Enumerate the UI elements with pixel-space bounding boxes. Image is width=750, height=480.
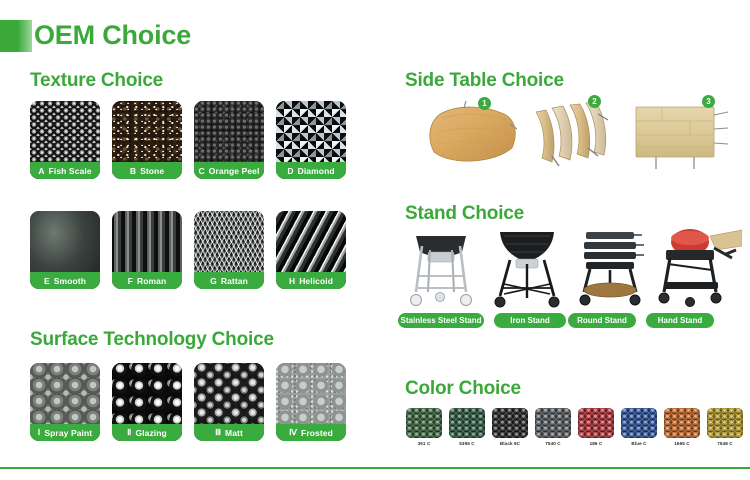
color-bump-texture (406, 408, 442, 438)
section-title-stand: Stand Choice (405, 203, 524, 225)
surface-swatch-2[interactable]: Ⅱ Glazing (112, 363, 182, 441)
stand-item-iron[interactable] (492, 228, 562, 310)
surface-label-3: Matt (225, 428, 243, 438)
texture-key-e: E (44, 276, 50, 286)
stand-item-stainless-steel[interactable] (406, 230, 476, 310)
side-table-badge-3: 3 (702, 95, 715, 108)
texture-key-f: F (128, 276, 133, 286)
texture-key-d: D (287, 166, 293, 176)
surface-label-4: Frosted (301, 428, 333, 438)
texture-key-b: B (130, 166, 136, 176)
oem-choice-page: OEM Choice Texture Choice A Fish Scale B… (0, 0, 750, 480)
texture-key-a: A (38, 166, 44, 176)
color-label-7548c: 7548 C (702, 441, 748, 446)
side-table-item-2[interactable]: 2 (528, 96, 628, 171)
curved-bamboo-side-table-icon (420, 100, 530, 170)
side-table-badge-2: 2 (588, 95, 601, 108)
surface-swatch-1[interactable]: Ⅰ Spray Paint (30, 363, 100, 441)
header-accent-block (0, 20, 32, 52)
stand-label-round[interactable]: Round Stand (568, 313, 636, 328)
texture-label-d: Diamond (298, 166, 335, 176)
surface-key-1: Ⅰ (38, 427, 41, 438)
color-bump-texture (664, 408, 700, 438)
color-bump-texture (449, 408, 485, 438)
texture-caption-a: A Fish Scale (30, 162, 100, 179)
section-title-color: Color Choice (405, 378, 521, 400)
texture-swatch-b[interactable]: B Stone (112, 101, 182, 179)
texture-label-g: Rattan (221, 276, 248, 286)
hand-stand-icon (650, 224, 742, 310)
color-label-1665c: 1665 C (659, 441, 705, 446)
texture-caption-c: C Orange Peel (194, 162, 264, 179)
surface-key-4: Ⅳ (289, 427, 297, 438)
stainless-steel-stand-icon (406, 230, 476, 310)
texture-swatch-c[interactable]: C Orange Peel (194, 101, 264, 179)
color-bump-texture (492, 408, 528, 438)
texture-swatch-g[interactable]: G Rattan (194, 211, 264, 289)
texture-label-c: Orange Peel (209, 166, 260, 176)
stand-label-hand[interactable]: Hand Stand (646, 313, 714, 328)
texture-label-h: Helicoid (299, 276, 333, 286)
texture-key-h: H (289, 276, 295, 286)
texture-swatch-e[interactable]: E Smooth (30, 211, 100, 289)
side-table-badge-1: 1 (478, 97, 491, 110)
side-table-item-1[interactable]: 1 (420, 100, 530, 170)
surface-swatch-4[interactable]: Ⅳ Frosted (276, 363, 346, 441)
color-label-black6c: Black 6C (487, 441, 533, 446)
texture-swatch-a[interactable]: A Fish Scale (30, 101, 100, 179)
color-swatch-bluec[interactable] (621, 408, 657, 438)
side-table-item-3[interactable]: 3 (632, 95, 737, 173)
surface-caption-3: Ⅲ Matt (194, 424, 264, 441)
stand-label-stainless-steel[interactable]: Stainless Steel Stand (398, 313, 484, 328)
footer-divider (0, 467, 750, 469)
color-bump-texture (535, 408, 571, 438)
color-swatch-7540c[interactable] (535, 408, 571, 438)
stand-item-hand[interactable] (650, 224, 742, 310)
round-stand-icon (572, 228, 648, 310)
color-swatch-351c[interactable] (406, 408, 442, 438)
slatted-bamboo-side-table-icon (528, 96, 628, 171)
surface-key-3: Ⅲ (215, 427, 221, 438)
color-swatch-186c[interactable] (578, 408, 614, 438)
texture-caption-e: E Smooth (30, 272, 100, 289)
color-swatch-1665c[interactable] (664, 408, 700, 438)
texture-caption-f: F Roman (112, 272, 182, 289)
texture-swatch-d[interactable]: D Diamond (276, 101, 346, 179)
color-bump-texture (621, 408, 657, 438)
texture-caption-b: B Stone (112, 162, 182, 179)
texture-caption-h: H Helicoid (276, 272, 346, 289)
color-label-5395c: 5395 C (444, 441, 490, 446)
texture-caption-d: D Diamond (276, 162, 346, 179)
texture-swatch-f[interactable]: F Roman (112, 211, 182, 289)
texture-label-e: Smooth (54, 276, 86, 286)
color-label-7540c: 7540 C (530, 441, 576, 446)
color-bump-texture (578, 408, 614, 438)
color-swatch-7548c[interactable] (707, 408, 743, 438)
texture-label-b: Stone (140, 166, 164, 176)
color-label-186c: 186 C (573, 441, 619, 446)
texture-label-f: Roman (137, 276, 166, 286)
section-title-surface: Surface Technology Choice (30, 329, 274, 351)
color-swatch-black6c[interactable] (492, 408, 528, 438)
color-label-351c: 351 C (401, 441, 447, 446)
surface-caption-4: Ⅳ Frosted (276, 424, 346, 441)
surface-caption-2: Ⅱ Glazing (112, 424, 182, 441)
surface-key-2: Ⅱ (127, 427, 131, 438)
stand-label-iron[interactable]: Iron Stand (494, 313, 566, 328)
texture-swatch-h[interactable]: H Helicoid (276, 211, 346, 289)
surface-label-2: Glazing (135, 428, 166, 438)
texture-caption-g: G Rattan (194, 272, 264, 289)
color-bump-texture (707, 408, 743, 438)
surface-label-1: Spray Paint (44, 428, 92, 438)
texture-label-a: Fish Scale (49, 166, 92, 176)
iron-stand-icon (492, 228, 562, 310)
color-label-bluec: Blue C (616, 441, 662, 446)
section-title-texture: Texture Choice (30, 70, 163, 92)
surface-swatch-3[interactable]: Ⅲ Matt (194, 363, 264, 441)
stand-item-round[interactable] (572, 228, 648, 310)
texture-key-c: C (199, 166, 205, 176)
surface-caption-1: Ⅰ Spray Paint (30, 424, 100, 441)
texture-key-g: G (210, 276, 217, 286)
color-swatch-5395c[interactable] (449, 408, 485, 438)
page-title: OEM Choice (34, 18, 191, 52)
page-header: OEM Choice (0, 20, 750, 54)
rectangular-bamboo-side-table-icon (632, 95, 737, 173)
section-title-side-table: Side Table Choice (405, 70, 564, 92)
